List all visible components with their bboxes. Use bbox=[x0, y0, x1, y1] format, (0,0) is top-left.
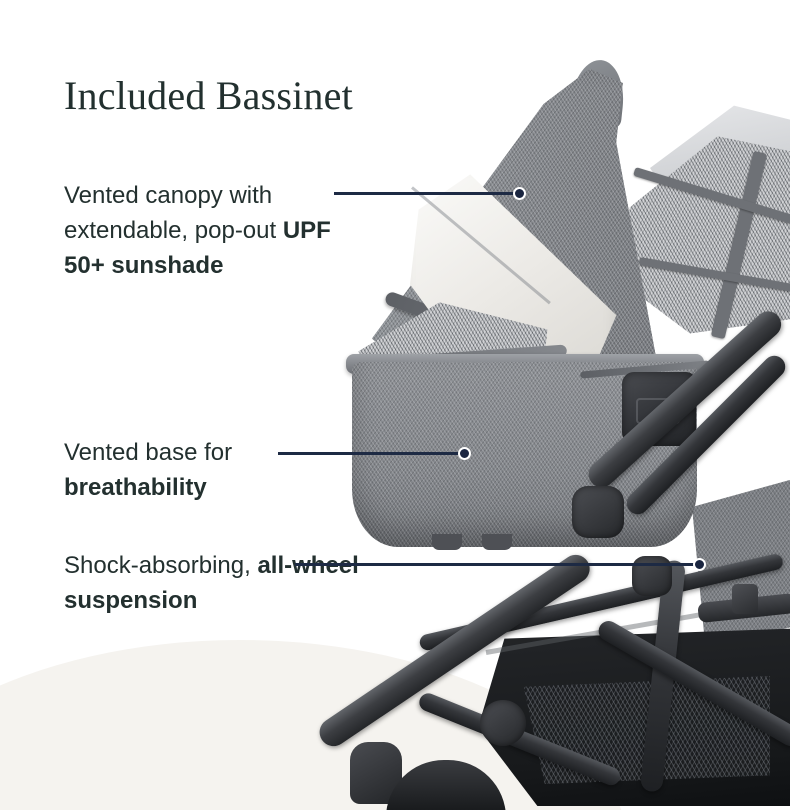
leader-line-suspension bbox=[295, 563, 700, 566]
frame-joint-lower bbox=[480, 700, 526, 746]
leader-dot-base bbox=[458, 447, 471, 460]
callout-2-bold-text: breathability bbox=[64, 474, 207, 501]
product-photo-inner bbox=[300, 0, 792, 810]
frame-joint-main bbox=[572, 486, 624, 538]
bassinet-foot-left bbox=[432, 534, 462, 550]
product-photo bbox=[300, 0, 792, 810]
leader-line-canopy bbox=[334, 192, 520, 195]
bassinet-foot-right bbox=[482, 534, 512, 550]
callout-vented-canopy: Vented canopy with extendable, pop-out U… bbox=[64, 178, 354, 283]
frame-joint-rear bbox=[632, 556, 672, 596]
page-title: Included Bassinet bbox=[64, 72, 353, 119]
leader-dot-suspension bbox=[693, 558, 706, 571]
front-wheel bbox=[386, 760, 506, 810]
callout-suspension: Shock-absorbing, all-wheel suspension bbox=[64, 548, 364, 618]
photo-right-margin bbox=[790, 0, 792, 810]
leader-line-base bbox=[278, 452, 465, 455]
callout-1-regular-text: Vented canopy with extendable, pop-out bbox=[64, 182, 276, 244]
seat-clip bbox=[732, 584, 758, 614]
bassinet-feature-graphic: Included Bassinet Vented canopy with ext… bbox=[0, 0, 810, 810]
callout-2-regular-text: Vented base for bbox=[64, 439, 232, 466]
callout-3-regular-text: Shock-absorbing, bbox=[64, 552, 251, 579]
leader-dot-canopy bbox=[513, 187, 526, 200]
callout-vented-base: Vented base for breathability bbox=[64, 435, 324, 505]
